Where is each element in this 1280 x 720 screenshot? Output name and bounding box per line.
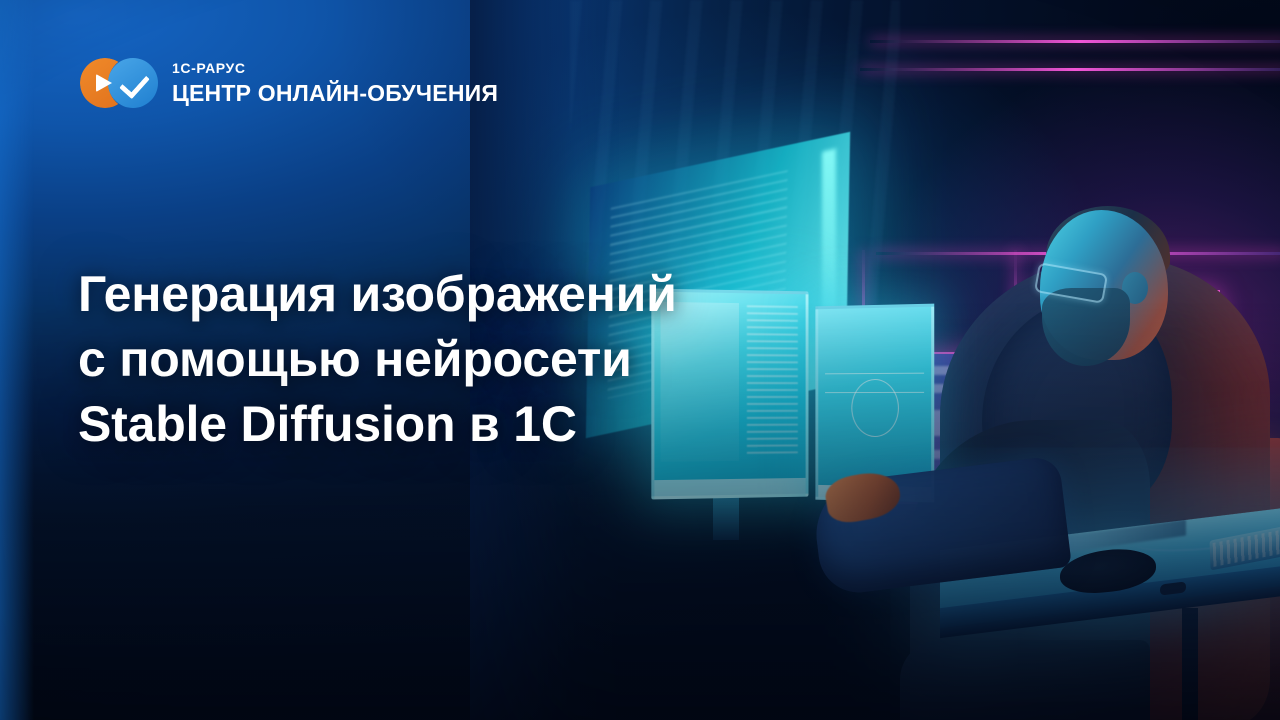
play-icon [96,74,112,92]
logo-marks [80,58,158,108]
division-name: ЦЕНТР ОНЛАЙН-ОБУЧЕНИЯ [172,82,498,105]
company-name: 1С-РАРУС [172,61,498,75]
title-line-1: Генерация изображений [78,262,677,327]
brand-logo[interactable]: 1С-РАРУС ЦЕНТР ОНЛАЙН-ОБУЧЕНИЯ [80,58,498,108]
logo-text: 1С-РАРУС ЦЕНТР ОНЛАЙН-ОБУЧЕНИЯ [172,61,498,105]
left-edge-highlight [0,0,34,720]
title-line-2: с помощью нейросети [78,327,677,392]
slide-canvas: 1С-РАРУС ЦЕНТР ОНЛАЙН-ОБУЧЕНИЯ Генерация… [0,0,1280,720]
title-line-3: Stable Diffusion в 1С [78,392,677,457]
page-title: Генерация изображений с помощью нейросет… [78,262,677,457]
